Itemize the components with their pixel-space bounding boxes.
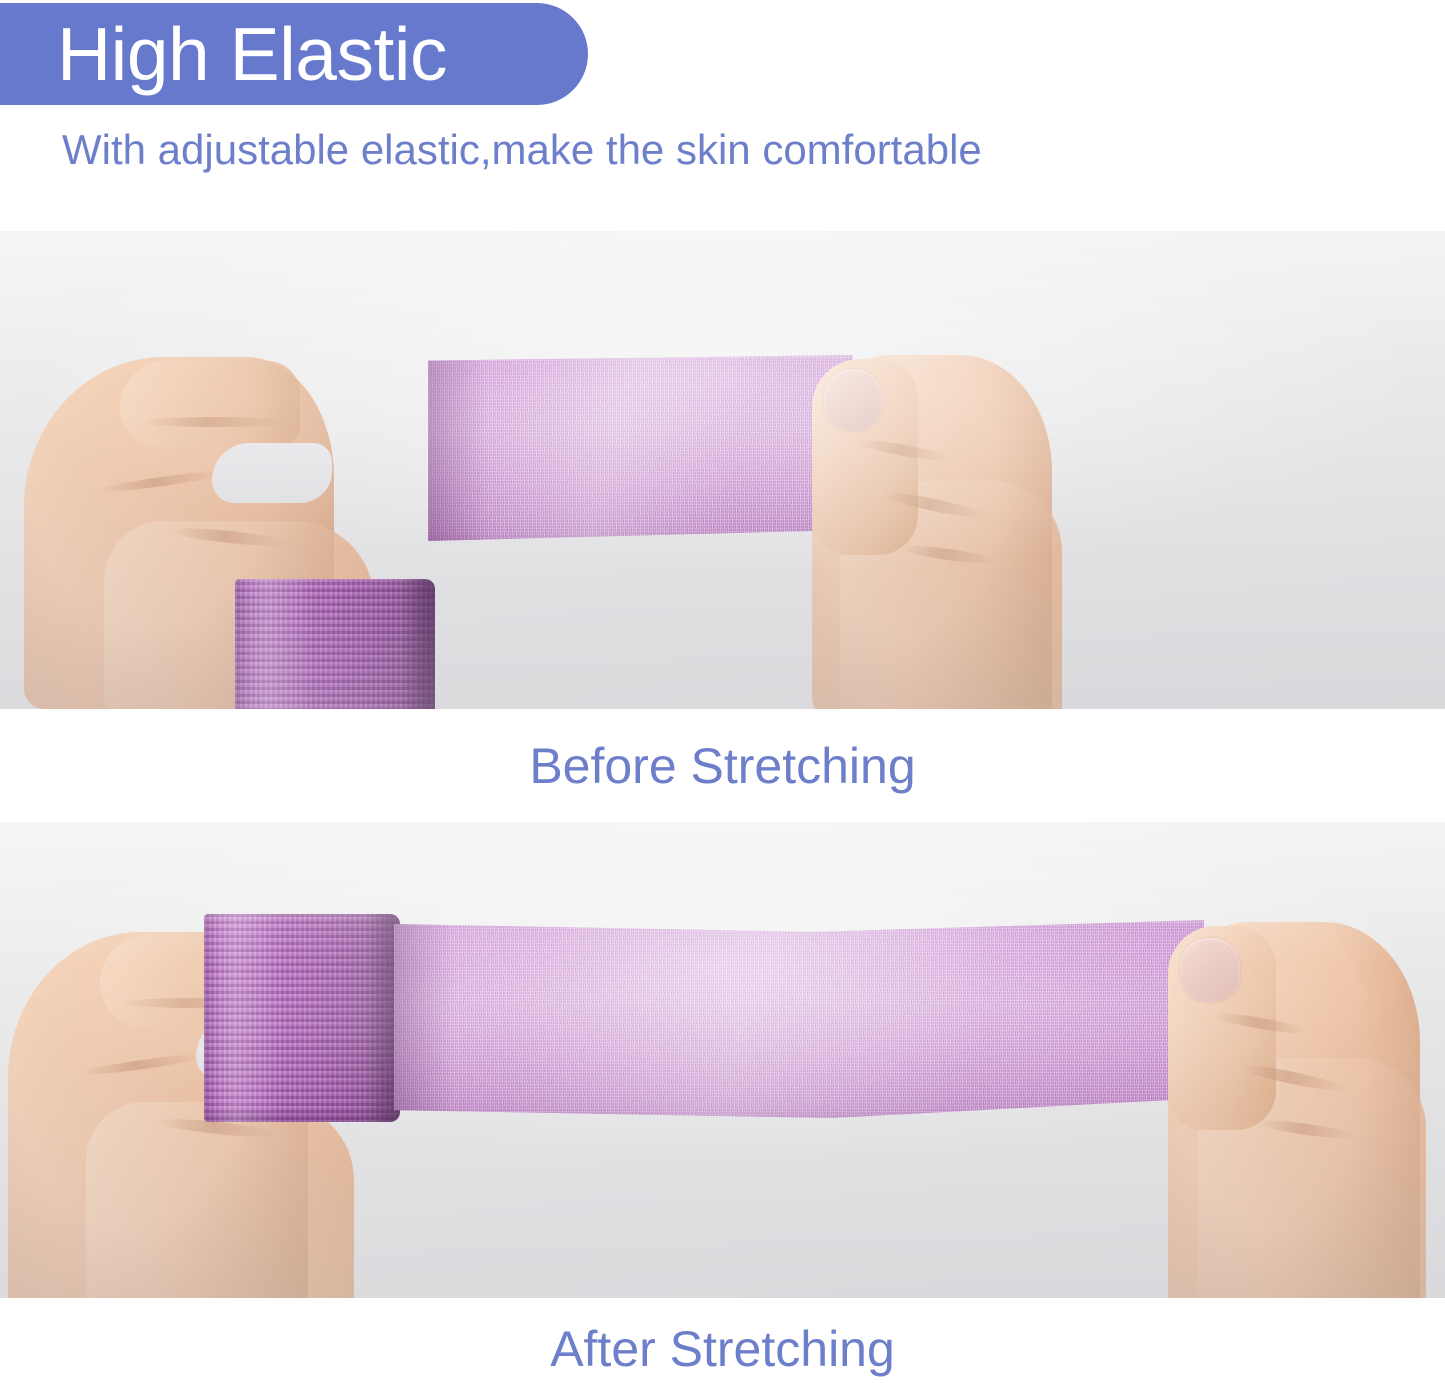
strip-left-shadow — [394, 920, 454, 1118]
strip-sheen — [428, 355, 853, 541]
roll-highlight — [204, 914, 400, 1122]
strip-texture — [394, 920, 1204, 1118]
finger-gap — [212, 443, 332, 503]
strip-sheen — [394, 920, 1204, 1118]
page-title: High Elastic — [57, 17, 447, 92]
strip-left-shadow — [428, 355, 488, 541]
roll-highlight — [235, 579, 435, 709]
thumbnail — [824, 369, 882, 431]
title-badge: High Elastic — [0, 3, 588, 105]
product-photo-after-stretching — [0, 822, 1445, 1298]
strip-texture — [428, 355, 853, 541]
header-section: High Elastic With adjustable elastic,mak… — [0, 0, 1445, 231]
bandage-strip-after — [394, 920, 1204, 1118]
caption-before-stretching: Before Stretching — [0, 709, 1445, 822]
thumbnail — [1180, 938, 1240, 1002]
roll-edge-shadow — [401, 579, 435, 709]
bandage-roll-body-before — [235, 579, 435, 709]
caption-before-label: Before Stretching — [529, 738, 915, 794]
bandage-strip-before — [428, 355, 853, 541]
caption-after-stretching: After Stretching — [0, 1298, 1445, 1383]
product-photo-before-stretching — [0, 231, 1445, 709]
caption-after-label: After Stretching — [550, 1321, 895, 1377]
subtitle-text: With adjustable elastic,make the skin co… — [62, 125, 982, 175]
bandage-roll-after — [204, 914, 400, 1122]
